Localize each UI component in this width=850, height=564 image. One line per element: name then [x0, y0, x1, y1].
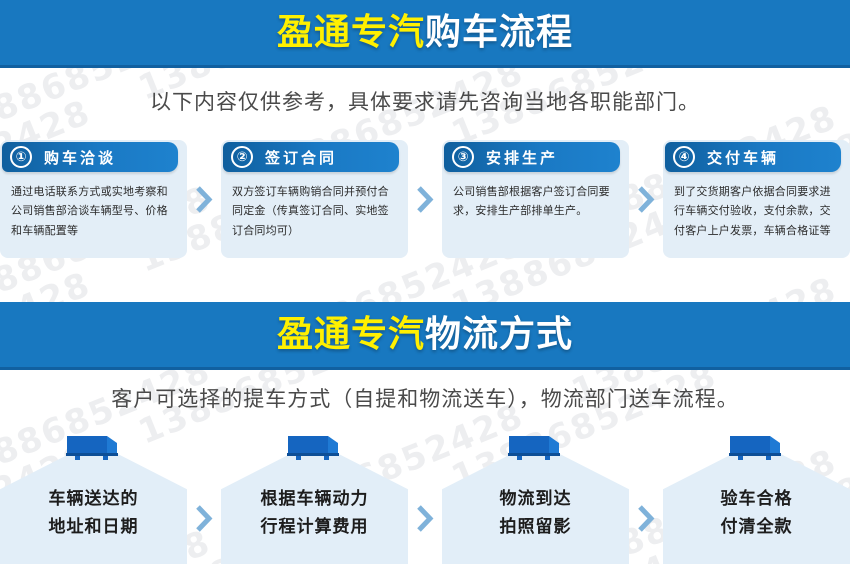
banner-purchase-process: 盈通专汽购车流程 [0, 0, 850, 68]
truck-icon [726, 432, 788, 462]
step-arrow-2 [408, 140, 442, 258]
banner-1-brand: 盈通专汽 [277, 12, 425, 53]
logistics-card-1-line1: 车辆送达的 [0, 486, 187, 514]
logistics-card-2-text: 根据车辆动力 行程计算费用 [221, 486, 408, 541]
subtitle-purchase: 以下内容仅供参考，具体要求请先咨询当地各职能部门。 [0, 86, 850, 116]
logistics-card-2[interactable]: 根据车辆动力 行程计算费用 [221, 432, 408, 564]
step-2-title: 签订合同 [265, 147, 337, 168]
step-3-number: ③ [452, 146, 474, 168]
step-arrow-1 [187, 140, 221, 258]
chevron-right-icon [196, 186, 213, 213]
logistics-step-row: 车辆送达的 地址和日期 根据车辆动力 行程计算 [0, 432, 850, 564]
banner-1-suffix: 购车流程 [425, 12, 573, 53]
logistics-card-2-line2: 行程计算费用 [221, 514, 408, 542]
truck-icon [63, 432, 125, 462]
chevron-right-icon [196, 505, 213, 532]
page-root: 13886852428 13886852428 13886852428 1388… [0, 0, 850, 564]
step-card-1[interactable]: ① 购车洽谈 通过电话联系方式或实地考察和公司销售部洽谈车辆型号、价格和车辆配置… [0, 140, 187, 258]
truck-icon [505, 432, 567, 462]
step-4-number: ④ [673, 146, 695, 168]
logistics-card-3-line1: 物流到达 [442, 486, 629, 514]
logistics-card-3-line2: 拍照留影 [442, 514, 629, 542]
purchase-step-row: ① 购车洽谈 通过电话联系方式或实地考察和公司销售部洽谈车辆型号、价格和车辆配置… [0, 140, 850, 260]
step-3-header: ③ 安排生产 [444, 142, 620, 172]
logistics-card-4-text: 验车合格 付清全款 [663, 486, 850, 541]
subtitle-logistics: 客户可选择的提车方式（自提和物流送车），物流部门送车流程。 [0, 383, 850, 413]
banner-1-text: 盈通专汽购车流程 [277, 15, 573, 51]
logistics-card-3-text: 物流到达 拍照留影 [442, 486, 629, 541]
banner-2-suffix: 物流方式 [425, 314, 573, 355]
logistics-card-1-text: 车辆送达的 地址和日期 [0, 486, 187, 541]
step-4-title: 交付车辆 [707, 147, 779, 168]
banner-logistics: 盈通专汽物流方式 [0, 302, 850, 370]
banner-2-text: 盈通专汽物流方式 [277, 317, 573, 353]
step-3-body: 公司销售部根据客户签订合同要求，安排生产部排单生产。 [442, 176, 629, 221]
step-2-body: 双方签订车辆购销合同并预付合同定金（传真签订合同、实地签订合同均可） [221, 176, 408, 240]
logistics-card-2-line1: 根据车辆动力 [221, 486, 408, 514]
logistics-card-4[interactable]: 验车合格 付清全款 [663, 432, 850, 564]
logistics-card-1[interactable]: 车辆送达的 地址和日期 [0, 432, 187, 564]
step-2-header: ② 签订合同 [223, 142, 399, 172]
logistics-arrow-1 [187, 432, 221, 564]
chevron-right-icon [638, 505, 655, 532]
step-card-4[interactable]: ④ 交付车辆 到了交货期客户依据合同要求进行车辆交付验收，支付余款，交付客户上户… [663, 140, 850, 258]
step-1-header: ① 购车洽谈 [2, 142, 178, 172]
chevron-right-icon [417, 186, 434, 213]
truck-icon [284, 432, 346, 462]
chevron-right-icon [417, 505, 434, 532]
step-card-2[interactable]: ② 签订合同 双方签订车辆购销合同并预付合同定金（传真签订合同、实地签订合同均可… [221, 140, 408, 258]
step-4-header: ④ 交付车辆 [665, 142, 841, 172]
step-1-number: ① [10, 146, 32, 168]
logistics-card-1-line2: 地址和日期 [0, 514, 187, 542]
logistics-arrow-2 [408, 432, 442, 564]
step-card-3[interactable]: ③ 安排生产 公司销售部根据客户签订合同要求，安排生产部排单生产。 [442, 140, 629, 258]
chevron-right-icon [638, 186, 655, 213]
logistics-arrow-3 [629, 432, 663, 564]
step-1-body: 通过电话联系方式或实地考察和公司销售部洽谈车辆型号、价格和车辆配置等 [0, 176, 187, 240]
logistics-card-4-line1: 验车合格 [663, 486, 850, 514]
step-2-number: ② [231, 146, 253, 168]
step-3-title: 安排生产 [486, 147, 558, 168]
logistics-card-3[interactable]: 物流到达 拍照留影 [442, 432, 629, 564]
banner-2-brand: 盈通专汽 [277, 314, 425, 355]
step-1-title: 购车洽谈 [44, 147, 116, 168]
step-arrow-3 [629, 140, 663, 258]
step-4-body: 到了交货期客户依据合同要求进行车辆交付验收，支付余款，交付客户上户发票，车辆合格… [663, 176, 850, 240]
logistics-card-4-line2: 付清全款 [663, 514, 850, 542]
